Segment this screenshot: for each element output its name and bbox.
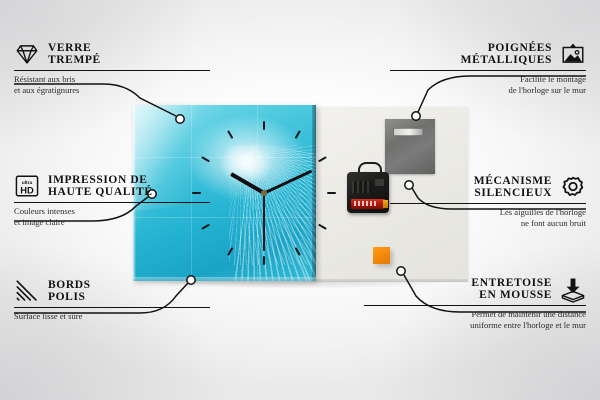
arrow-on-pad-icon — [560, 276, 586, 302]
clock-tick — [295, 247, 301, 256]
feature-title: IMPRESSION DE HAUTE QUALITÉ — [48, 174, 153, 199]
clock-tick — [227, 247, 233, 256]
battery — [351, 199, 385, 209]
clock-tick — [227, 130, 233, 139]
feature-header: MÉCANISME SILENCIEUX — [390, 174, 586, 200]
clock-center-cap — [261, 190, 267, 196]
feature-rule — [14, 70, 210, 71]
feature-header: ultra HD IMPRESSION DE HAUTE QUALITÉ — [14, 173, 210, 199]
gear-icon — [560, 174, 586, 200]
hanging-frame-icon — [560, 41, 586, 67]
feature-header: ENTRETOISE EN MOUSSE — [364, 276, 586, 302]
clock-tick — [295, 130, 301, 139]
clock-tick — [263, 121, 265, 130]
diagonal-stripes-icon — [14, 278, 40, 304]
foam-spacer — [373, 247, 390, 264]
mechanism-notch — [375, 179, 384, 186]
clock-tick — [263, 256, 265, 265]
feature-title: VERRE TREMPÉ — [48, 42, 101, 67]
clock-tick — [318, 156, 327, 162]
clock-minute-hand — [263, 170, 311, 195]
svg-text:HD: HD — [20, 185, 34, 195]
mechanism-body — [347, 172, 389, 213]
battery-label — [354, 201, 376, 206]
clock-tick — [327, 192, 336, 194]
feature-title: MÉCANISME SILENCIEUX — [474, 175, 552, 200]
ultra-hd-icon: ultra HD — [14, 173, 40, 199]
clock-tick — [318, 224, 327, 230]
feature-impression-haute-qualite[interactable]: ultra HD IMPRESSION DE HAUTE QUALITÉ Cou… — [14, 173, 210, 227]
feature-rule — [14, 307, 210, 308]
feature-header: POIGNÉES MÉTALLIQUES — [390, 41, 586, 67]
metal-plate-slot — [393, 128, 423, 136]
feature-mecanisme-silencieux[interactable]: MÉCANISME SILENCIEUX Les aiguilles de l'… — [390, 174, 586, 228]
feature-entretoise-en-mousse[interactable]: ENTRETOISE EN MOUSSE Permet de maintenir… — [364, 276, 586, 330]
feature-header: BORDS POLIS — [14, 278, 210, 304]
feature-title: POIGNÉES MÉTALLIQUES — [461, 42, 552, 67]
feature-rule — [14, 202, 210, 203]
feature-rule — [390, 203, 586, 204]
metal-handle-plate — [385, 119, 435, 174]
feature-verre-trempe[interactable]: VERRE TREMPÉ Résistant aux bris et aux é… — [14, 41, 210, 95]
feature-rule — [364, 305, 586, 306]
mechanism-vents — [352, 181, 372, 193]
infographic-canvas: VERRE TREMPÉ Résistant aux bris et aux é… — [0, 0, 600, 400]
clock-second-hand — [263, 193, 265, 251]
feature-rule — [390, 70, 586, 71]
feature-poignees-metalliques[interactable]: POIGNÉES MÉTALLIQUES Facilite le montage… — [390, 41, 586, 95]
clock-mechanism — [347, 169, 389, 213]
feature-title: ENTRETOISE EN MOUSSE — [471, 277, 552, 302]
diamond-icon — [14, 41, 40, 67]
clock-tick — [201, 156, 210, 162]
feature-title: BORDS POLIS — [48, 279, 91, 304]
feature-header: VERRE TREMPÉ — [14, 41, 210, 67]
clock-hour-hand — [230, 172, 265, 194]
feature-bords-polis[interactable]: BORDS POLIS Surface lisse et sûre — [14, 278, 210, 322]
